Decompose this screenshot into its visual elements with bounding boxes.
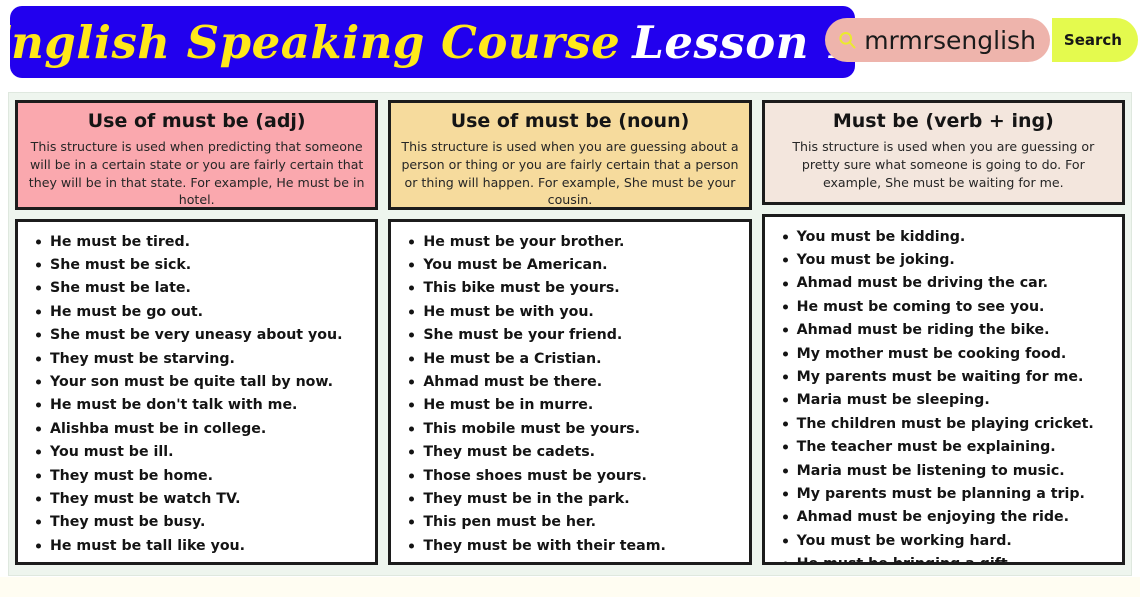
list-item: They must be with their team.	[397, 534, 742, 557]
list-item: You must be American.	[397, 253, 742, 276]
list-item: Those shoes must be yours.	[397, 464, 742, 487]
column-title-1: Use of must be (adj)	[88, 111, 306, 133]
search-icon	[837, 30, 857, 50]
list-item: Ali must be sick today.	[24, 557, 369, 565]
examples-card-3: You must be kidding. You must be joking.…	[762, 214, 1125, 565]
list-item: They must be busy.	[24, 511, 369, 534]
lesson-content: Use of must be (adj) This structure is u…	[8, 92, 1132, 576]
list-item: This mobile must be yours.	[397, 417, 742, 440]
page-title-lesson: Lesson 11	[632, 16, 855, 69]
page-header: English Speaking CourseLesson 11 mrmrsen…	[0, 0, 1140, 88]
column-header-card-1: Use of must be (adj) This structure is u…	[15, 100, 378, 210]
list-item: They must be starving.	[24, 347, 369, 370]
column-title-2: Use of must be (noun)	[451, 111, 690, 133]
list-item: He must be go out.	[24, 300, 369, 323]
list-item: She must be your friend.	[397, 324, 742, 347]
column-header-card-3: Must be (verb + ing) This structure is u…	[762, 100, 1125, 205]
list-item: You must be ill.	[24, 441, 369, 464]
search-input[interactable]: mrmrsenglish	[864, 28, 1036, 53]
list-item: She must be from England.	[397, 557, 742, 565]
list-item: They must be home.	[24, 464, 369, 487]
list-item: Your son must be quite tall by now.	[24, 370, 369, 393]
column-must-be-verb-ing: Must be (verb + ing) This structure is u…	[762, 100, 1125, 565]
examples-list-2: He must be your brother. You must be Ame…	[397, 230, 742, 565]
list-item: They must be watch TV.	[24, 487, 369, 510]
columns-container: Use of must be (adj) This structure is u…	[15, 100, 1125, 565]
list-item: Ahmad must be riding the bike.	[771, 319, 1116, 342]
list-item: They must be cadets.	[397, 441, 742, 464]
list-item: You must be joking.	[771, 248, 1116, 271]
column-must-be-noun: Use of must be (noun) This structure is …	[388, 100, 751, 565]
list-item: Ahmad must be driving the car.	[771, 272, 1116, 295]
examples-list-3: You must be kidding. You must be joking.…	[771, 225, 1116, 565]
list-item: You must be kidding.	[771, 225, 1116, 248]
search-field[interactable]: mrmrsenglish	[825, 18, 1050, 62]
list-item: He must be don't talk with me.	[24, 394, 369, 417]
list-item: They must be in the park.	[397, 487, 742, 510]
list-item: My mother must be cooking food.	[771, 342, 1116, 365]
column-must-be-adj: Use of must be (adj) This structure is u…	[15, 100, 378, 565]
list-item: My parents must be waiting for me.	[771, 365, 1116, 388]
search-button[interactable]: Search	[1052, 18, 1138, 62]
list-item: My parents must be planning a trip.	[771, 482, 1116, 505]
list-item: Maria must be listening to music.	[771, 459, 1116, 482]
list-item: He must be your brother.	[397, 230, 742, 253]
page-title-main: English Speaking Course	[10, 16, 620, 69]
column-header-card-2: Use of must be (noun) This structure is …	[388, 100, 751, 210]
list-item: Maria must be sleeping.	[771, 389, 1116, 412]
list-item: He must be tall like you.	[24, 534, 369, 557]
column-description-1: This structure is used when predicting t…	[28, 138, 365, 210]
list-item: He must be tired.	[24, 230, 369, 253]
list-item: Alishba must be in college.	[24, 417, 369, 440]
column-description-3: This structure is used when you are gues…	[775, 138, 1112, 192]
list-item: This pen must be her.	[397, 511, 742, 534]
list-item: Ahmad must be there.	[397, 370, 742, 393]
list-item: He must be coming to see you.	[771, 295, 1116, 318]
title-banner: English Speaking CourseLesson 11	[10, 6, 855, 78]
examples-list-1: He must be tired. She must be sick. She …	[24, 230, 369, 565]
list-item: She must be sick.	[24, 253, 369, 276]
list-item: He must be with you.	[397, 300, 742, 323]
list-item: She must be late.	[24, 277, 369, 300]
list-item: He must be a Cristian.	[397, 347, 742, 370]
list-item: The children must be playing cricket.	[771, 412, 1116, 435]
bottom-strip	[0, 577, 1140, 597]
column-title-3: Must be (verb + ing)	[833, 111, 1054, 133]
list-item: The teacher must be explaining.	[771, 436, 1116, 459]
search-widget[interactable]: mrmrsenglish Search	[825, 18, 1138, 62]
lesson-page: English Speaking CourseLesson 11 mrmrsen…	[0, 0, 1140, 597]
list-item: He must be in murre.	[397, 394, 742, 417]
examples-card-2: He must be your brother. You must be Ame…	[388, 219, 751, 565]
list-item: This bike must be yours.	[397, 277, 742, 300]
list-item: Ahmad must be enjoying the ride.	[771, 506, 1116, 529]
list-item: You must be working hard.	[771, 529, 1116, 552]
page-title: English Speaking CourseLesson 11	[10, 20, 855, 65]
column-description-2: This structure is used when you are gues…	[401, 138, 738, 210]
examples-card-1: He must be tired. She must be sick. She …	[15, 219, 378, 565]
list-item: She must be very uneasy about you.	[24, 324, 369, 347]
list-item: He must be bringing a gift.	[771, 553, 1116, 565]
